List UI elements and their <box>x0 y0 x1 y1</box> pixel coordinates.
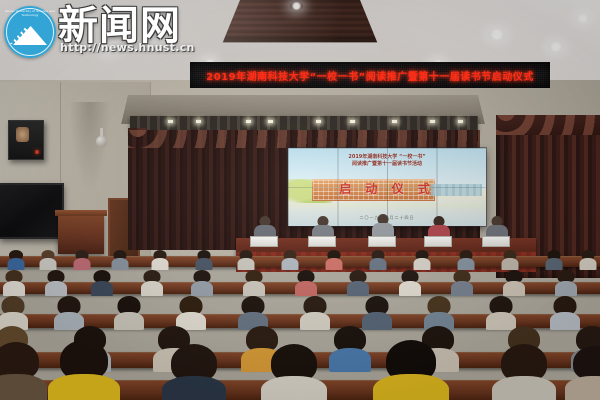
audience-member <box>178 296 204 330</box>
stage-spotlight <box>458 120 463 123</box>
audience-member-foreground <box>56 340 112 400</box>
audience-member <box>40 250 56 270</box>
audience-member <box>240 296 266 330</box>
audience-member <box>552 296 578 330</box>
audience-member <box>426 296 452 330</box>
audience-member-foreground <box>168 344 220 400</box>
audience-member <box>370 250 386 270</box>
stage-curtain-right-valance <box>496 115 600 135</box>
audience-member <box>348 270 368 296</box>
stage-curtain-scallops <box>128 130 480 148</box>
audience-member <box>458 250 474 270</box>
watermark: Hunan University of Science and Technolo… <box>0 0 230 58</box>
university-logo-icon: Hunan University of Science and Technolo… <box>4 6 56 58</box>
audience-member <box>296 270 316 296</box>
audience-member-foreground <box>498 344 550 400</box>
audience-member <box>8 250 24 270</box>
audience-member <box>152 250 168 270</box>
stage-spotlight <box>168 120 173 123</box>
audience-member <box>142 270 162 296</box>
name-placard <box>308 236 336 247</box>
photograph-auditorium-ceremony: 2019年湖南科技大学“一校一书”阅读推广暨第十一届读书节启动仪式 2019年湖… <box>0 0 600 400</box>
seated-official <box>372 214 394 238</box>
audience-member <box>74 250 90 270</box>
speaker-cone-icon <box>16 127 29 142</box>
camera-dome-icon <box>96 136 107 147</box>
seated-audience <box>0 248 600 400</box>
audience-member <box>0 296 26 330</box>
stage-spotlight <box>268 120 273 123</box>
stage-spotlight <box>392 120 397 123</box>
name-placard <box>424 236 452 247</box>
wall-speaker <box>8 120 44 160</box>
stage-spotlight <box>316 120 321 123</box>
ceiling-downlight <box>548 42 564 52</box>
audience-member <box>326 250 342 270</box>
audience-member <box>546 250 562 270</box>
name-placard <box>482 236 510 247</box>
audience-member <box>238 250 254 270</box>
audience-member <box>56 296 82 330</box>
stage-spotlight <box>350 120 355 123</box>
audience-member-foreground <box>268 344 320 400</box>
audience-member <box>502 250 518 270</box>
led-headline-banner: 2019年湖南科技大学“一校一书”阅读推广暨第十一届读书节启动仪式 <box>190 62 550 88</box>
cctv-camera <box>96 128 107 148</box>
ceiling-downlight <box>290 2 303 10</box>
stage-spotlight <box>196 120 201 123</box>
audience-member <box>4 270 24 296</box>
audience-member <box>556 270 576 296</box>
audience-member <box>488 296 514 330</box>
audience-member <box>116 296 142 330</box>
audience-member <box>452 270 472 296</box>
audience-member-foreground <box>0 342 42 400</box>
audience-member <box>364 296 390 330</box>
stage-spotlight <box>246 120 251 123</box>
audience-member <box>196 250 212 270</box>
watermark-url: http://news.hnust.cn <box>60 41 195 54</box>
audience-member <box>332 326 368 372</box>
audience-member <box>92 270 112 296</box>
speaker-power-led-icon <box>35 150 39 154</box>
audience-member <box>192 270 212 296</box>
audience-member <box>400 270 420 296</box>
ceiling-downlight <box>488 29 506 40</box>
stage-spotlight <box>430 120 435 123</box>
audience-member <box>580 250 596 270</box>
audience-member <box>414 250 430 270</box>
ceiling-downlight <box>576 14 590 23</box>
audience-member <box>302 296 328 330</box>
audience-member <box>504 270 524 296</box>
wall-seam <box>60 82 61 182</box>
audience-member-foreground <box>570 346 600 400</box>
audience-member-foreground <box>382 340 440 400</box>
name-placard <box>250 236 278 247</box>
name-placard <box>368 236 396 247</box>
audience-member <box>46 270 66 296</box>
led-banner-text: 2019年湖南科技大学“一校一书”阅读推广暨第十一届读书节启动仪式 <box>206 68 533 83</box>
logo-arc-text: Hunan University of Science and Technolo… <box>4 9 56 17</box>
audience-member <box>244 270 264 296</box>
audience-member <box>112 250 128 270</box>
audience-member <box>282 250 298 270</box>
